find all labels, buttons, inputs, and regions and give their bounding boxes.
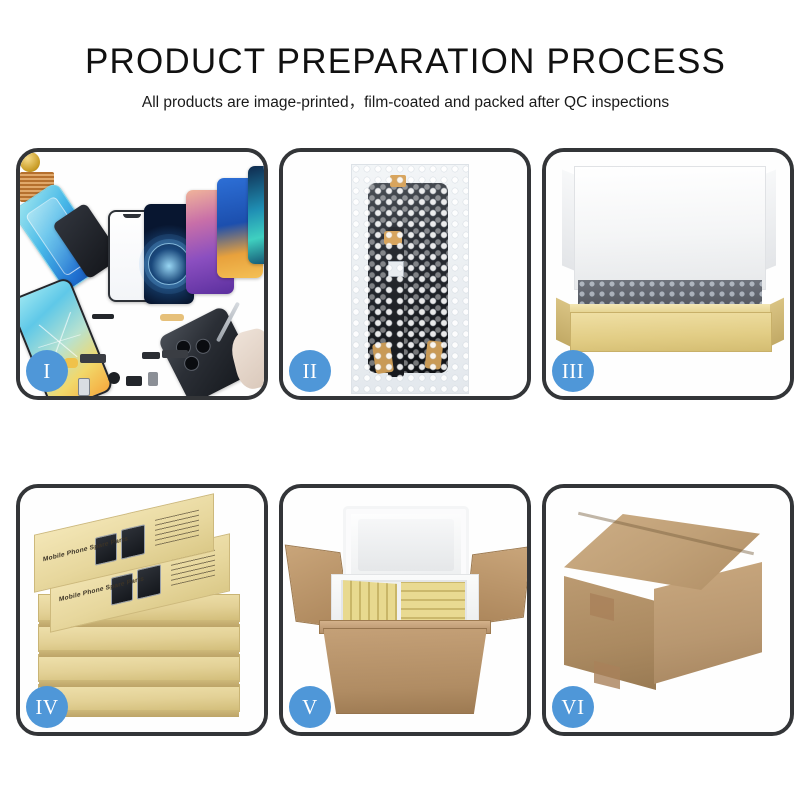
page-subtitle: All products are image-printed，film-coat… xyxy=(0,93,811,113)
step-badge-3: III xyxy=(552,350,594,392)
step-panel-3: III xyxy=(542,148,794,400)
vibration-motor-icon xyxy=(20,152,40,172)
connector-icon xyxy=(78,378,90,396)
step-panel-1: I xyxy=(16,148,268,400)
bubble-wrap-bag-icon xyxy=(351,164,469,394)
step-badge-5: V xyxy=(289,686,331,728)
box-front-icon xyxy=(570,312,772,352)
foam-lid-icon xyxy=(343,506,469,584)
product-preparation-page: PRODUCT PREPARATION PROCESS All products… xyxy=(0,0,811,811)
process-steps-grid: I II xyxy=(16,148,795,736)
phone-display-teal-icon xyxy=(248,166,264,264)
flex-cable-icon xyxy=(80,354,106,363)
camera-module-icon xyxy=(126,376,142,386)
step-badge-1: I xyxy=(26,350,68,392)
carton-body-icon xyxy=(323,628,487,714)
page-title: PRODUCT PREPARATION PROCESS xyxy=(0,40,811,84)
step-panel-2: II xyxy=(279,148,531,400)
bubble-texture-icon xyxy=(352,165,468,393)
step-panel-5: V xyxy=(279,484,531,736)
antenna-strip-icon xyxy=(92,314,114,319)
page-header: PRODUCT PREPARATION PROCESS All products… xyxy=(0,40,811,113)
speaker-icon xyxy=(108,372,120,384)
step-badge-2: II xyxy=(289,350,331,392)
step-badge-6: VI xyxy=(552,686,594,728)
sim-tray-icon xyxy=(148,372,158,386)
button-flex-icon xyxy=(142,352,160,359)
flex-cable-icon xyxy=(162,350,188,358)
step-panel-6: VI xyxy=(542,484,794,736)
step-badge-4: IV xyxy=(26,686,68,728)
box-lid-icon xyxy=(574,166,766,290)
step-panel-4: Mobile Phone Spare Parts Mobile Phone Sp… xyxy=(16,484,268,736)
flex-cable-icon xyxy=(160,314,184,321)
